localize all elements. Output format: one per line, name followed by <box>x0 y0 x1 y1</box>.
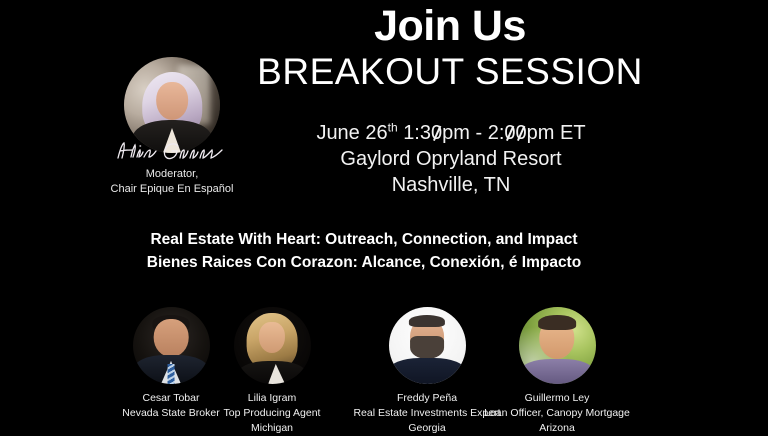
event-date-ordinal: th <box>388 120 398 134</box>
headline-breakout-session: BREAKOUT SESSION <box>210 51 690 94</box>
session-title-block: Real Estate With Heart: Outreach, Connec… <box>64 228 664 275</box>
event-venue: Gaylord Opryland Resort <box>216 146 686 172</box>
event-time-start: 1:30pm <box>403 122 470 144</box>
event-date-prefix: June 26 <box>316 122 387 144</box>
panelist-avatar <box>234 307 311 384</box>
panelist-location: Arizona <box>452 421 662 436</box>
headline-block: Join Us BREAKOUT SESSION <box>210 4 690 94</box>
moderator-block: Moderator, Chair Epique En Español <box>74 57 270 197</box>
headline-join-us: Join Us <box>210 4 690 49</box>
session-title-spanish: Bienes Raices Con Corazon: Alcance, Cone… <box>64 251 664 274</box>
moderator-role-line2: Chair Epique En Español <box>74 182 270 197</box>
moderator-avatar <box>124 57 220 153</box>
event-details: June 26th 1:30pm - 2:00pm ET Gaylord Opr… <box>216 120 686 198</box>
panelist-role: Loan Officer, Canopy Mortgage <box>452 406 662 421</box>
panelist-card: Guillermo Ley Loan Officer, Canopy Mortg… <box>452 300 662 436</box>
panelists-row: Cesar Tobar Nevada State Broker Lilia Ig… <box>104 300 664 430</box>
event-flyer: Join Us BREAKOUT SESSION June 26th 1:30p… <box>0 0 768 432</box>
moderator-role-line1: Moderator, <box>74 167 270 182</box>
panelist-name: Guillermo Ley <box>452 391 662 406</box>
session-title-english: Real Estate With Heart: Outreach, Connec… <box>64 228 664 251</box>
event-time-separator: - <box>470 122 488 144</box>
event-date-time: June 26th 1:30pm - 2:00pm ET <box>216 120 686 146</box>
moderator-role: Moderator, Chair Epique En Español <box>74 167 270 197</box>
event-time-end: 2:00pm ET <box>488 122 586 144</box>
event-city: Nashville, TN <box>216 172 686 198</box>
panelist-avatar <box>519 307 596 384</box>
